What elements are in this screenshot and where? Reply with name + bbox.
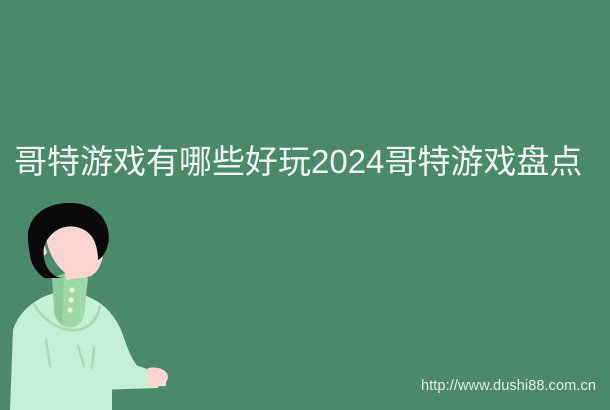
page-canvas: 哥特游戏有哪些好玩2024哥特游戏盘点 http://www.dushi88.c…	[0, 0, 610, 410]
collar-button-2	[68, 297, 73, 302]
person-illustration-svg	[0, 200, 230, 410]
person-illustration	[0, 200, 230, 410]
watermark-url: http://www.dushi88.com.cn	[421, 378, 596, 394]
collar-button-1	[69, 287, 74, 292]
page-title: 哥特游戏有哪些好玩2024哥特游戏盘点	[14, 140, 596, 184]
collar-button-3	[67, 307, 72, 312]
garment-group	[10, 292, 166, 410]
